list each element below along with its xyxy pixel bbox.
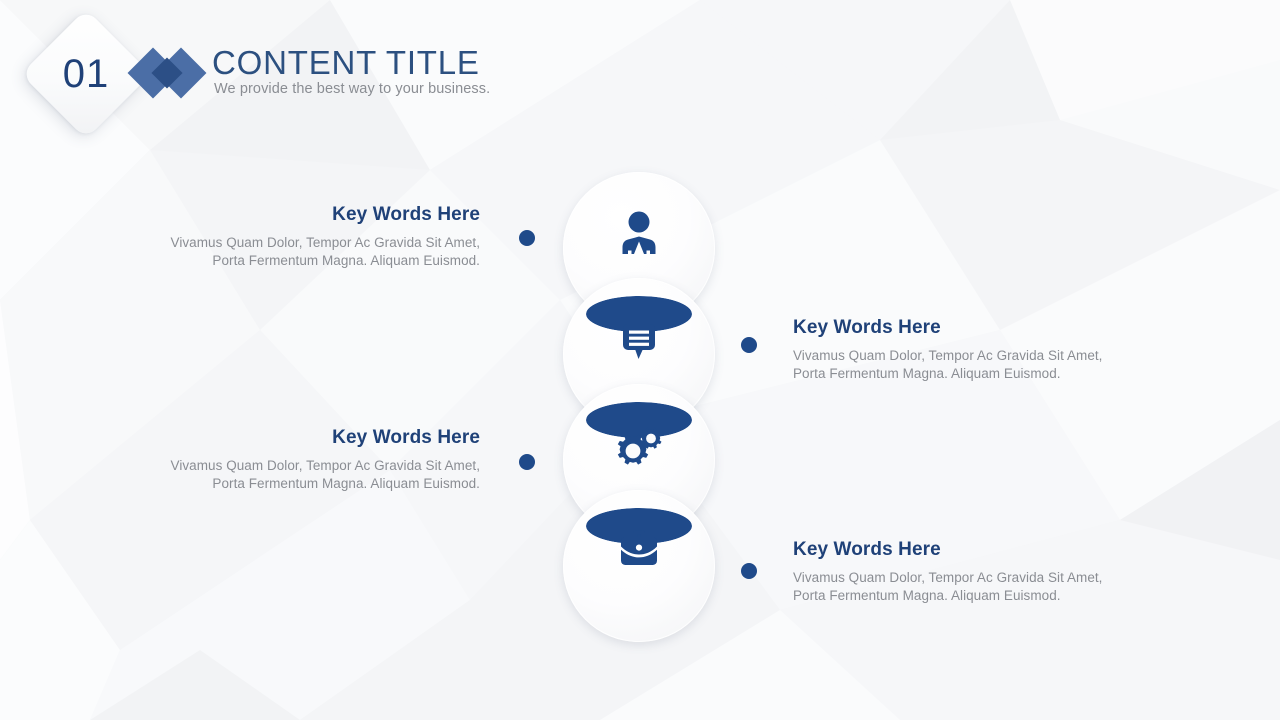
slide: 01 CONTENT TITLE We provide the best way… bbox=[0, 0, 1280, 720]
step-heading: Key Words Here bbox=[793, 317, 1143, 340]
step-body-line-1: Vivamus Quam Dolor, Tempor Ac Gravida Si… bbox=[793, 569, 1143, 587]
step-heading: Key Words Here bbox=[793, 539, 1143, 562]
step-body-line-2: Porta Fermentum Magna. Aliquam Euismod. bbox=[130, 252, 480, 270]
bullet-dot-2 bbox=[741, 337, 757, 353]
step-body: Vivamus Quam Dolor, Tempor Ac Gravida Si… bbox=[130, 457, 480, 493]
step-body: Vivamus Quam Dolor, Tempor Ac Gravida Si… bbox=[130, 234, 480, 270]
step-heading: Key Words Here bbox=[130, 427, 480, 450]
double-diamond-icon bbox=[133, 45, 205, 103]
bullet-dot-3 bbox=[519, 454, 535, 470]
page-title: CONTENT TITLE bbox=[212, 45, 480, 81]
gears-icon bbox=[563, 420, 715, 472]
step-number: 01 bbox=[40, 28, 132, 120]
step-body-line-2: Porta Fermentum Magna. Aliquam Euismod. bbox=[130, 475, 480, 493]
step-body-line-2: Porta Fermentum Magna. Aliquam Euismod. bbox=[793, 365, 1143, 383]
step-body: Vivamus Quam Dolor, Tempor Ac Gravida Si… bbox=[793, 347, 1143, 383]
step-heading: Key Words Here bbox=[130, 204, 480, 227]
step-body-line-1: Vivamus Quam Dolor, Tempor Ac Gravida Si… bbox=[130, 234, 480, 252]
step-text-3: Key Words Here Vivamus Quam Dolor, Tempo… bbox=[130, 427, 480, 493]
step-body-line-2: Porta Fermentum Magna. Aliquam Euismod. bbox=[793, 587, 1143, 605]
step-body-line-1: Vivamus Quam Dolor, Tempor Ac Gravida Si… bbox=[130, 457, 480, 475]
step-text-4: Key Words Here Vivamus Quam Dolor, Tempo… bbox=[793, 539, 1143, 605]
briefcase-icon bbox=[563, 526, 715, 574]
page-subtitle: We provide the best way to your business… bbox=[214, 81, 490, 97]
step-text-2: Key Words Here Vivamus Quam Dolor, Tempo… bbox=[793, 317, 1143, 383]
step-text-1: Key Words Here Vivamus Quam Dolor, Tempo… bbox=[130, 204, 480, 270]
icon-stack bbox=[563, 172, 715, 640]
slide-header: 01 CONTENT TITLE We provide the best way… bbox=[0, 0, 1280, 140]
bullet-dot-4 bbox=[741, 563, 757, 579]
chat-bubble-icon bbox=[563, 314, 715, 366]
step-body: Vivamus Quam Dolor, Tempor Ac Gravida Si… bbox=[793, 569, 1143, 605]
bullet-dot-1 bbox=[519, 230, 535, 246]
step-body-line-1: Vivamus Quam Dolor, Tempor Ac Gravida Si… bbox=[793, 347, 1143, 365]
person-icon bbox=[563, 208, 715, 262]
